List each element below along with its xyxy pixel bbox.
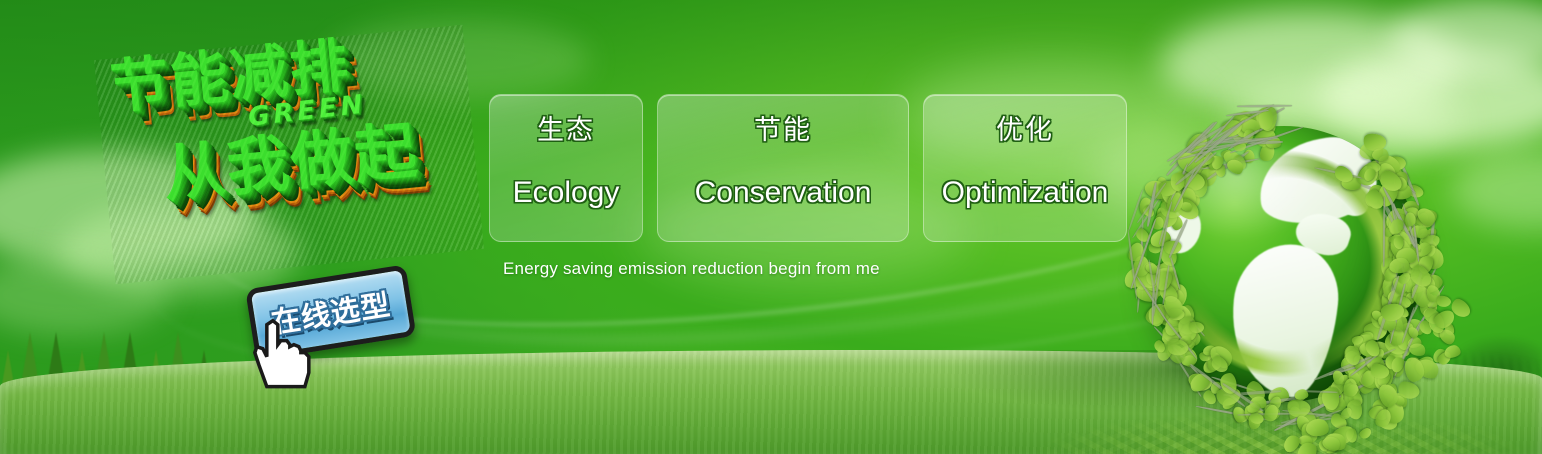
vine-leaf xyxy=(1346,428,1358,443)
vine-leaf xyxy=(1345,345,1360,365)
banner-tagline: Energy saving emission reduction begin f… xyxy=(503,259,880,279)
feature-panel-conservation[interactable]: 节能 Conservation xyxy=(657,94,909,242)
feature-panel-optimization-cn: 优化 xyxy=(996,117,1054,144)
feature-panel-optimization[interactable]: 优化 Optimization xyxy=(923,94,1127,242)
feature-panel-group: 生态 Ecology 节能 Conservation 优化 Optimizati… xyxy=(489,94,1127,242)
headline-3d: 节能减排 GREEN 从我做起 xyxy=(94,25,484,284)
pointing-hand-cursor-icon xyxy=(247,307,317,391)
vine-leaf xyxy=(1389,257,1410,273)
feature-panel-ecology-cn: 生态 xyxy=(537,117,595,144)
feature-panel-conservation-cn: 节能 xyxy=(754,117,812,144)
feature-panel-conservation-en: Conservation xyxy=(695,178,872,208)
feature-panel-ecology[interactable]: 生态 Ecology xyxy=(489,94,643,242)
feature-panel-optimization-en: Optimization xyxy=(942,178,1109,208)
feature-panel-ecology-en: Ecology xyxy=(513,178,620,208)
headline-line-2: 从我做起 xyxy=(160,114,477,206)
leaf-globe-illustration xyxy=(1128,108,1440,420)
eco-promo-banner: 节能减排 GREEN 从我做起 在线选型 生态 Ecology 节能 Conse… xyxy=(0,0,1542,454)
